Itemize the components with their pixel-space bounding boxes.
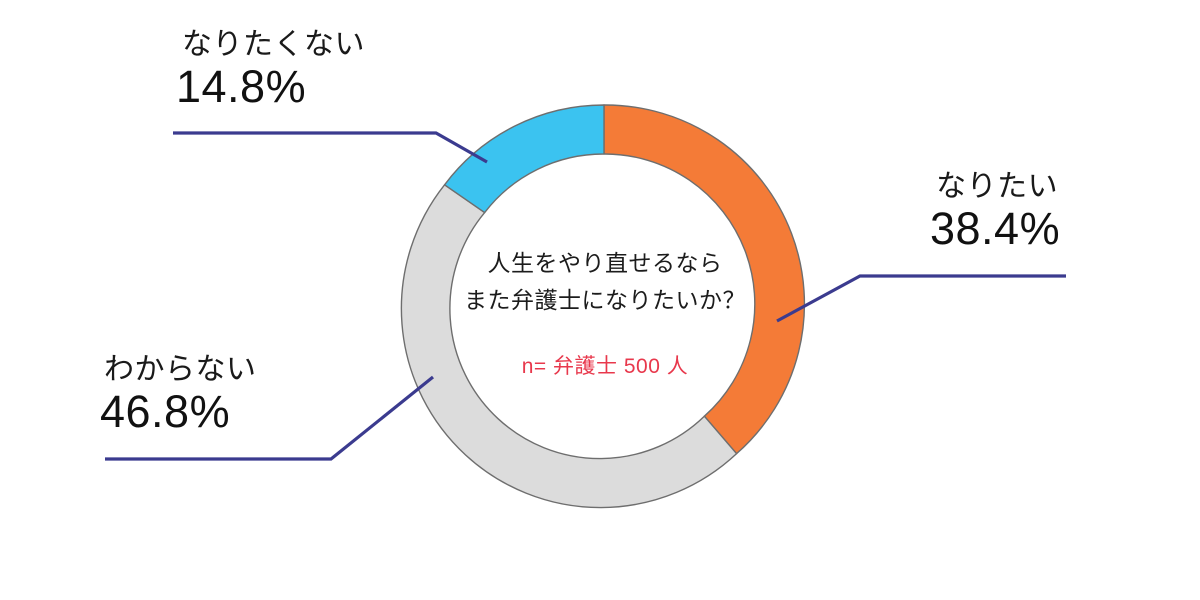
donut-ring [401, 105, 804, 508]
callout-naritakunai-category: なりたくない [182, 30, 365, 60]
callout-naritai-category: なりたい [930, 172, 1058, 202]
callout-naritakunai-percent: 14.8% [176, 64, 365, 109]
donut-chart-figure: なりたくない 14.8% なりたい 38.4% わからない 46.8% 人生をや… [0, 0, 1200, 600]
callout-wakaranai-category: わからない [104, 355, 257, 385]
leader-line-naritakunai [173, 133, 487, 162]
callout-naritai: なりたい 38.4% [930, 172, 1060, 251]
callout-naritakunai: なりたくない 14.8% [176, 30, 365, 109]
callout-naritai-percent: 38.4% [930, 206, 1060, 251]
leader-line-naritai [777, 276, 1066, 321]
donut-slice-wakaranai[interactable] [401, 185, 736, 508]
donut-slice-naritai[interactable] [604, 105, 804, 454]
donut-slice-naritakunai[interactable] [445, 105, 604, 213]
callout-wakaranai-percent: 46.8% [100, 389, 257, 434]
callout-wakaranai: わからない 46.8% [100, 355, 257, 434]
